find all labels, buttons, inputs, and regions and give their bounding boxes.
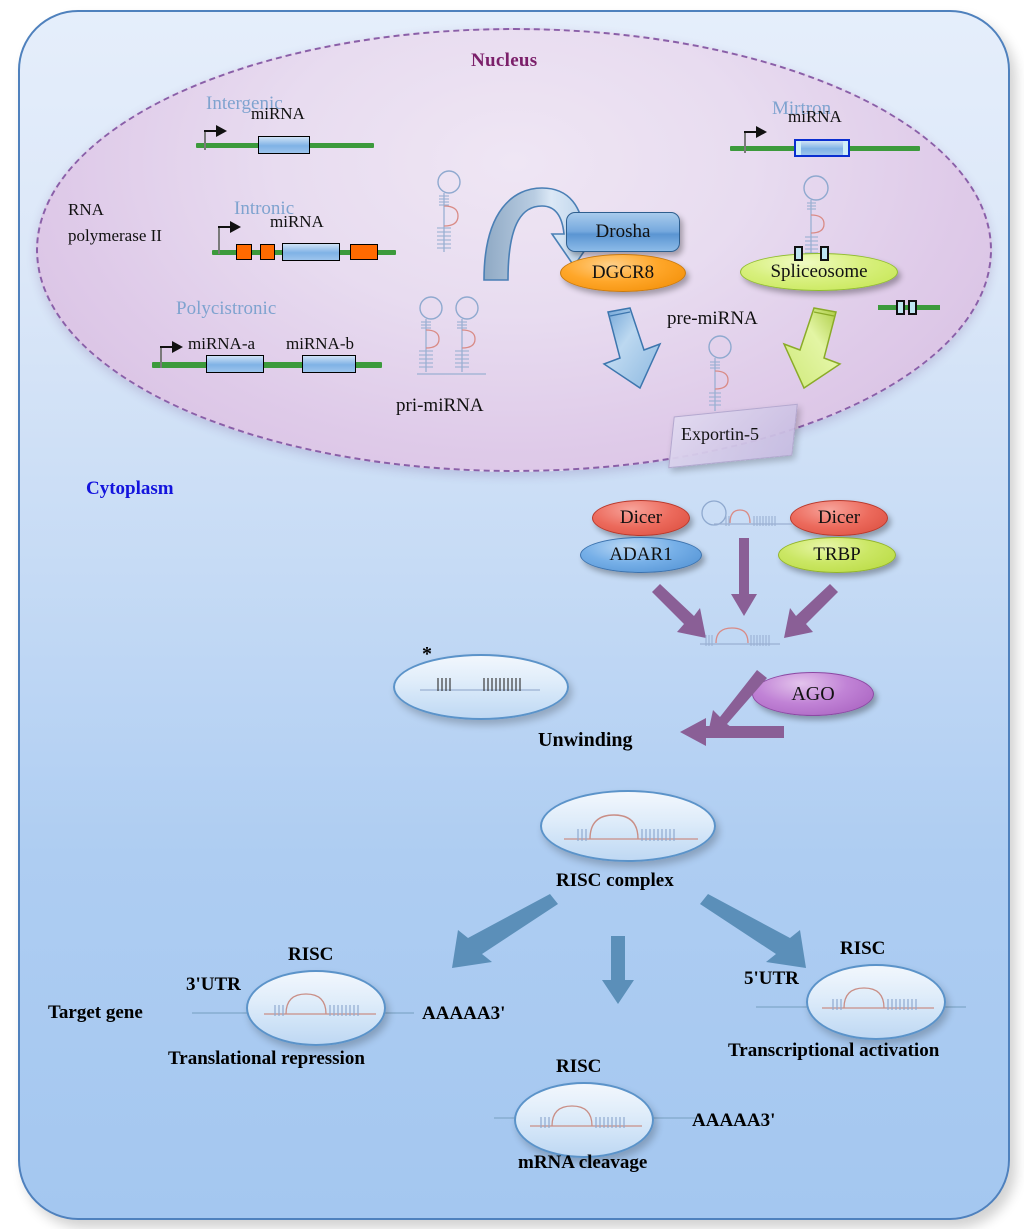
dicer-left-label: Dicer (620, 507, 662, 529)
mirna-label-intergenic: miRNA (251, 104, 305, 124)
gene-mirtron: miRNA (730, 128, 926, 164)
caption-transcriptional-activation: Transcriptional activation (728, 1040, 939, 1062)
mirna-box-mirtron (794, 139, 850, 157)
dicer-right-protein: Dicer (790, 500, 888, 536)
purple-arrow-down-center (726, 538, 766, 620)
gene-intronic: miRNA (212, 232, 408, 268)
dicer-left-protein: Dicer (592, 500, 690, 536)
risc-label-activation: RISC (840, 938, 885, 960)
splice-site-markers (794, 244, 840, 264)
mirna-label-mirtron: miRNA (788, 107, 842, 127)
target-gene-label: Target gene (48, 1002, 143, 1024)
caption-translational-repression: Translational repression (168, 1048, 365, 1070)
hairpin-cytoplasmic-pre-mirna (700, 497, 796, 533)
gene-intergenic: miRNA (196, 125, 376, 161)
purple-arrow-ago-to-unwinding (676, 718, 786, 752)
cytoplasm-label: Cytoplasm (86, 478, 174, 500)
dicer-right-label: Dicer (818, 507, 860, 529)
rna-polymerase-label-line2: polymerase II (68, 226, 162, 246)
utr-label-repression: 3'UTR (186, 974, 241, 996)
mirna-label-intronic: miRNA (270, 212, 324, 232)
mirna-box-b (302, 355, 356, 373)
exportin5-label: Exportin-5 (681, 424, 759, 445)
mirna-b-label: miRNA-b (286, 334, 354, 354)
passenger-strand-rna (418, 672, 548, 698)
blue-block-arrow-drosha (600, 308, 680, 398)
ago-label: AGO (791, 683, 834, 706)
risc-rna-activation (820, 980, 940, 1020)
risc-label-repression: RISC (288, 944, 333, 966)
pre-mirna-label: pre-miRNA (667, 308, 758, 330)
spliced-intron-fragment (878, 298, 940, 318)
label-polycistronic: Polycistronic (176, 298, 276, 320)
risc-label-cleavage: RISC (556, 1056, 601, 1078)
polya-tail-repression: AAAAA3' (422, 1003, 505, 1025)
passenger-strand-asterisk: * (422, 643, 432, 666)
mirna-duplex (694, 618, 788, 652)
risc-complex-rna (562, 807, 702, 851)
spliceosome-label: Spliceosome (770, 261, 867, 283)
gene-polycistronic: miRNA-a miRNA-b (152, 338, 388, 378)
blue-arrow-to-mrna-cleavage (598, 936, 638, 1006)
dgcr8-label: DGCR8 (592, 262, 654, 284)
risc-rna-cleavage (528, 1098, 648, 1138)
exon-3 (350, 244, 378, 260)
unwinding-label: Unwinding (538, 729, 633, 752)
rna-polymerase-label-line1: RNA (68, 200, 104, 220)
caption-mrna-cleavage: mRNA cleavage (518, 1152, 647, 1174)
figure-canvas: Nucleus Cytoplasm RNA polymerase II Inte… (0, 0, 1024, 1229)
mirna-a-label: miRNA-a (188, 334, 255, 354)
mirna-box-a (206, 355, 264, 373)
dgcr8-protein: DGCR8 (560, 254, 686, 292)
hairpin-pri-mirna-pair (414, 296, 490, 382)
polya-tail-cleavage: AAAAA3' (692, 1110, 775, 1132)
green-block-arrow-mirtron (780, 308, 860, 398)
mirna-box-intronic (282, 243, 340, 261)
drosha-protein: Drosha (566, 212, 680, 252)
exon-1 (236, 244, 252, 260)
adar1-protein: ADAR1 (580, 537, 702, 573)
hairpin-pri-mirna-single (430, 170, 470, 260)
mirna-box-intergenic (258, 136, 310, 154)
risc-rna-repression (262, 986, 382, 1026)
utr-label-activation: 5'UTR (744, 968, 799, 990)
blue-arrow-to-translational-repression (440, 892, 560, 952)
hairpin-pre-mirna (700, 335, 744, 417)
drosha-label: Drosha (596, 221, 651, 243)
adar1-label: ADAR1 (609, 544, 672, 566)
blue-arrow-to-transcriptional-activation (700, 892, 820, 952)
trbp-label: TRBP (813, 544, 861, 566)
nucleus-label: Nucleus (471, 50, 538, 72)
pri-mirna-label: pri-miRNA (396, 395, 484, 417)
exon-2 (260, 244, 275, 260)
trbp-protein: TRBP (778, 537, 896, 573)
risc-complex-label: RISC complex (556, 870, 674, 892)
